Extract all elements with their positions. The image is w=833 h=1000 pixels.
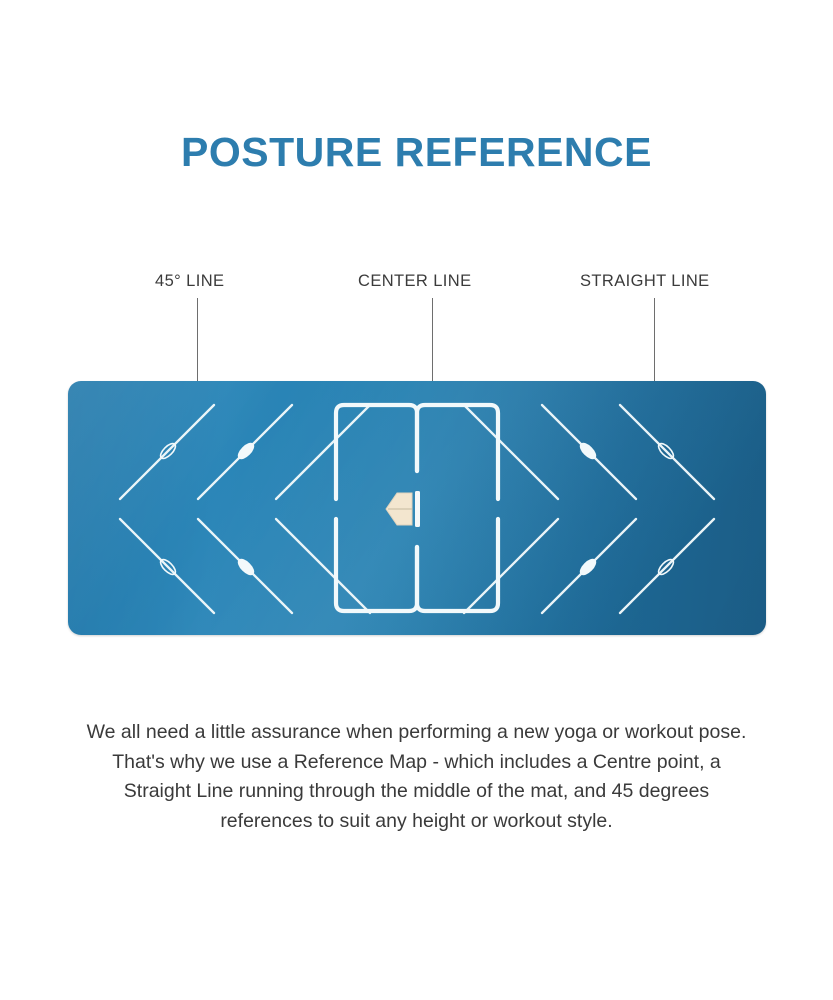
yoga-mat-image bbox=[68, 381, 766, 635]
callout-label-center-line: CENTER LINE bbox=[358, 273, 472, 290]
callout-label-straight-line: STRAIGHT LINE bbox=[580, 273, 710, 290]
mat-markings bbox=[68, 381, 766, 635]
page-title: POSTURE REFERENCE bbox=[0, 130, 833, 175]
callout-label-45-line: 45° LINE bbox=[155, 273, 224, 290]
page-root: POSTURE REFERENCE 45° LINE CENTER LINE S… bbox=[0, 0, 833, 1000]
description-paragraph: We all need a little assurance when perf… bbox=[84, 718, 749, 836]
